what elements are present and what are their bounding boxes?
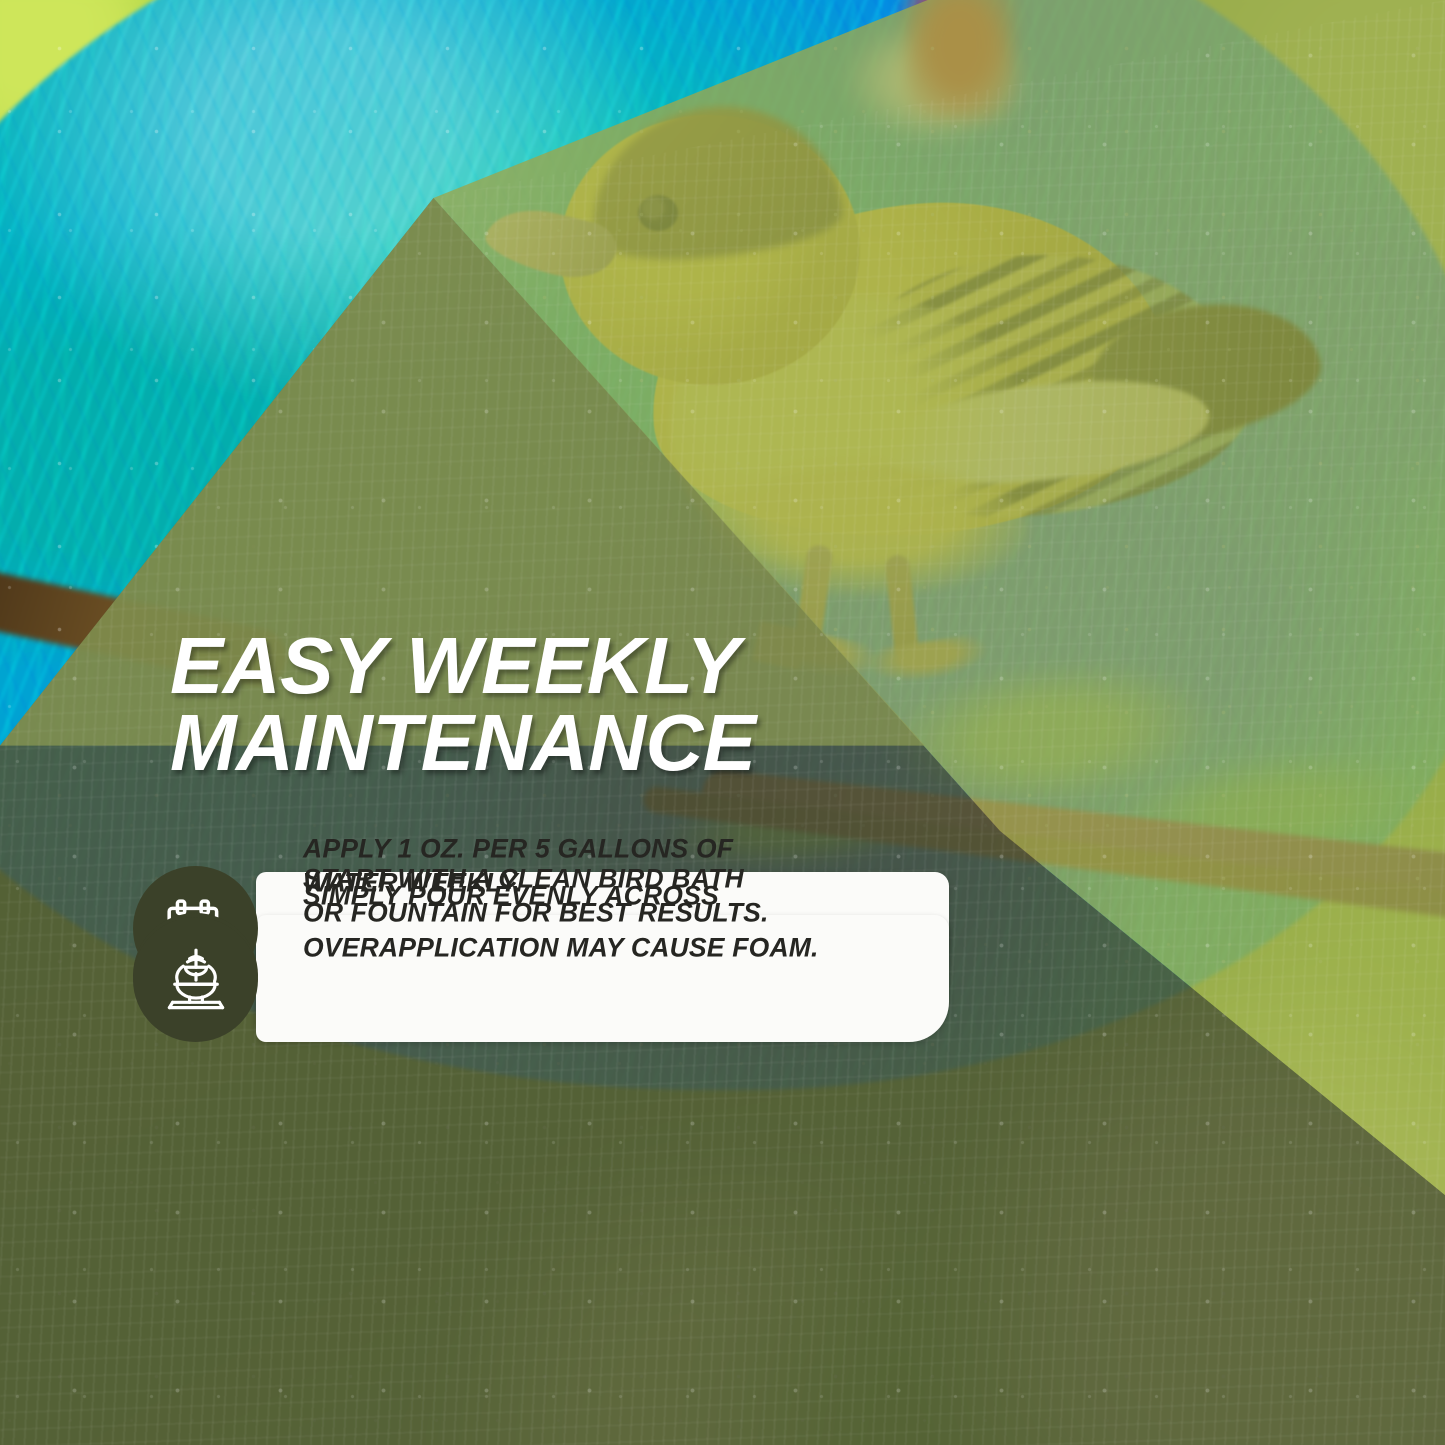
feature-icon-badge xyxy=(133,917,258,1042)
content-layer: EASY WEEKLY MAINTENANCE xyxy=(0,0,1445,1445)
feature-list: APPLY 1 OZ. PER 5 GALLONS OF WATER WEEKL… xyxy=(133,866,893,913)
promo-image: EASY WEEKLY MAINTENANCE xyxy=(0,0,1445,1445)
feature-text: START WITH A CLEAN BIRD BATH OR FOUNTAIN… xyxy=(303,861,823,964)
fountain-icon xyxy=(162,946,230,1014)
page-title: EASY WEEKLY MAINTENANCE xyxy=(170,628,930,782)
